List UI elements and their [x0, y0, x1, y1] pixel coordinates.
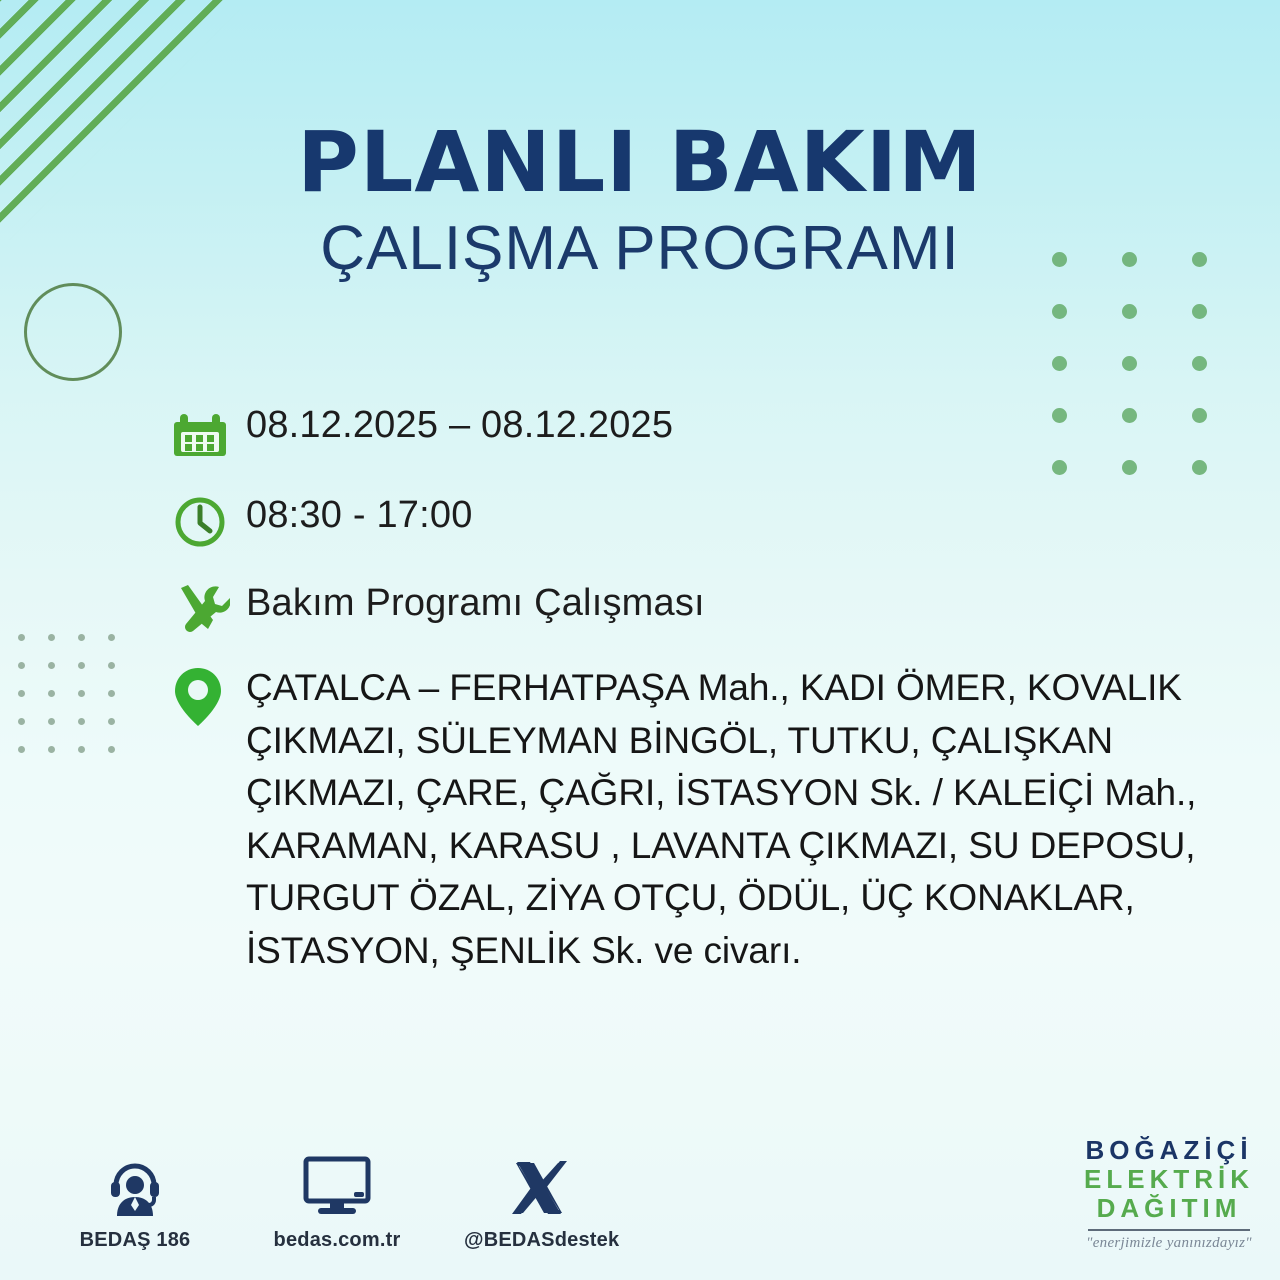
brand-line-dagitim: DAĞITIM: [1084, 1194, 1254, 1223]
outage-info-block: 08.12.2025 – 08.12.2025 08:30 - 17:00: [172, 400, 1262, 1003]
contact-phone-label: BEDAŞ 186: [60, 1229, 210, 1252]
brand-line-bogazici: BOĞAZİÇİ: [1084, 1136, 1254, 1165]
address-line: ÇIKMAZI, SÜLEYMAN BİNGÖL, TUTKU, ÇALIŞKA…: [246, 715, 1196, 768]
work-type-text: Bakım Programı Çalışması: [246, 578, 705, 624]
info-row-work-type: Bakım Programı Çalışması: [172, 578, 1262, 636]
poster-header: PLANLI BAKIM ÇALIŞMA PROGRAMI: [0, 120, 1280, 280]
clock-icon: [172, 490, 246, 550]
headset-support-icon: [60, 1151, 210, 1217]
page-title: PLANLI BAKIM: [0, 120, 1280, 204]
info-row-time: 08:30 - 17:00: [172, 490, 1262, 550]
map-pin-icon: [172, 662, 246, 728]
x-twitter-icon: [464, 1151, 614, 1217]
contact-twitter[interactable]: @BEDASdestek: [464, 1151, 614, 1252]
address-line: KARAMAN, KARASU , LAVANTA ÇIKMAZI, SU DE…: [246, 820, 1196, 873]
address-line: ÇIKMAZI, ÇARE, ÇAĞRI, İSTASYON Sk. / KAL…: [246, 767, 1196, 820]
time-range-text: 08:30 - 17:00: [246, 490, 473, 536]
contact-website[interactable]: bedas.com.tr: [262, 1151, 412, 1252]
address-line: ÇATALCA – FERHATPAŞA Mah., KADI ÖMER, KO…: [246, 662, 1196, 715]
contact-phone[interactable]: BEDAŞ 186: [60, 1151, 210, 1252]
address-line: TURGUT ÖZAL, ZİYA OTÇU, ÖDÜL, ÜÇ KONAKLA…: [246, 872, 1196, 925]
page-subtitle: ÇALIŞMA PROGRAMI: [0, 218, 1280, 280]
tools-icon: [172, 578, 246, 636]
brand-logo: BOĞAZİÇİ ELEKTRİK DAĞITIM "enerjimizle y…: [1084, 1136, 1254, 1252]
brand-line-elektrik: ELEKTRİK: [1084, 1165, 1254, 1194]
contact-website-label: bedas.com.tr: [262, 1229, 412, 1252]
info-row-date: 08.12.2025 – 08.12.2025: [172, 400, 1262, 460]
footer-contact-strip: BEDAŞ 186 bedas.com.tr: [60, 1151, 614, 1252]
monitor-icon: [262, 1151, 412, 1217]
brand-tagline: "enerjimizle yanınızdayız": [1084, 1235, 1254, 1252]
address-text: ÇATALCA – FERHATPAŞA Mah., KADI ÖMER, KO…: [246, 662, 1196, 977]
brand-divider: [1088, 1229, 1250, 1231]
contact-twitter-label: @BEDASdestek: [464, 1229, 614, 1252]
address-line: İSTASYON, ŞENLİK Sk. ve civarı.: [246, 925, 1196, 978]
info-row-address: ÇATALCA – FERHATPAŞA Mah., KADI ÖMER, KO…: [172, 662, 1262, 977]
circle-outline-decoration: [24, 283, 122, 381]
calendar-icon: [172, 400, 246, 460]
dot-grid-left-decoration: [18, 634, 138, 774]
poster-root: PLANLI BAKIM ÇALIŞMA PROGRAMI: [0, 0, 1280, 1280]
date-range-text: 08.12.2025 – 08.12.2025: [246, 400, 673, 446]
